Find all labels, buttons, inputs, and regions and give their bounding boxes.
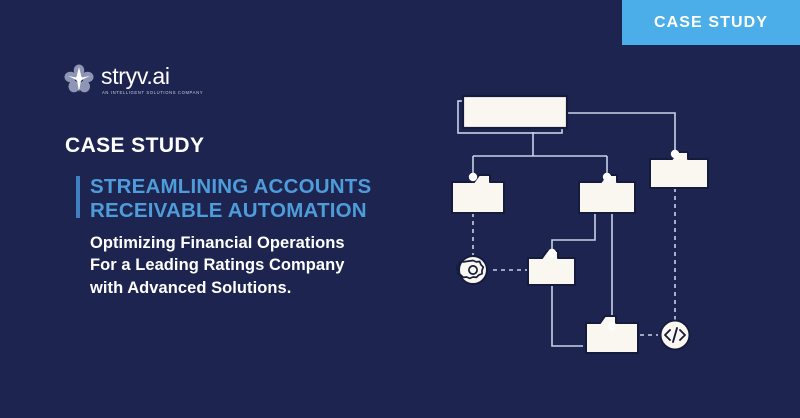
brand-name: stryv.ai (101, 65, 203, 88)
page-title: STREAMLINING ACCOUNTS RECEIVABLE AUTOMAT… (90, 175, 371, 223)
node-folder-right (650, 152, 708, 188)
page-subtitle-line-1: Optimizing Financial Operations (90, 232, 345, 254)
edge-middle-to-bottom (552, 278, 583, 346)
flower-logo-icon (64, 64, 94, 94)
node-folder-bottom (586, 316, 638, 353)
brand-text: stryv.ai AN INTELLIGENT SOLUTIONS COMPAN… (101, 63, 203, 95)
connector-layer (473, 113, 675, 346)
case-study-badge-label: CASE STUDY (654, 14, 768, 32)
eyebrow-label: CASE STUDY (65, 134, 204, 158)
node-code (661, 321, 690, 350)
case-study-badge: CASE STUDY (622, 0, 800, 45)
title-accent-bar (76, 176, 80, 218)
edge-center-to-middle (552, 213, 595, 251)
page-title-line-2: RECEIVABLE AUTOMATION (90, 199, 371, 223)
dot-folder-right (671, 150, 679, 158)
dot-folder-left (469, 173, 477, 181)
dot-folder-middle (548, 249, 556, 257)
brand-tagline: AN INTELLIGENT SOLUTIONS COMPANY (101, 89, 203, 95)
page-subtitle-line-3: with Advanced Solutions. (90, 277, 345, 299)
page-subtitle: Optimizing Financial Operations For a Le… (90, 232, 345, 299)
edge-root-to-folder-right (563, 113, 675, 154)
dot-folder-center (603, 173, 611, 181)
case-study-poster: CASE STUDY stryv.ai AN INTELLIGENT SOLUT… (0, 0, 800, 418)
page-subtitle-line-2: For a Leading Ratings Company (90, 254, 345, 276)
brand-logo: stryv.ai AN INTELLIGENT SOLUTIONS COMPAN… (64, 58, 203, 100)
page-title-line-1: STREAMLINING ACCOUNTS (90, 175, 371, 199)
node-root-block (458, 96, 567, 133)
node-folder-left (452, 175, 504, 213)
node-gear (456, 256, 487, 284)
dot-folder-bottom (608, 322, 616, 330)
flowchart-illustration (440, 88, 770, 388)
